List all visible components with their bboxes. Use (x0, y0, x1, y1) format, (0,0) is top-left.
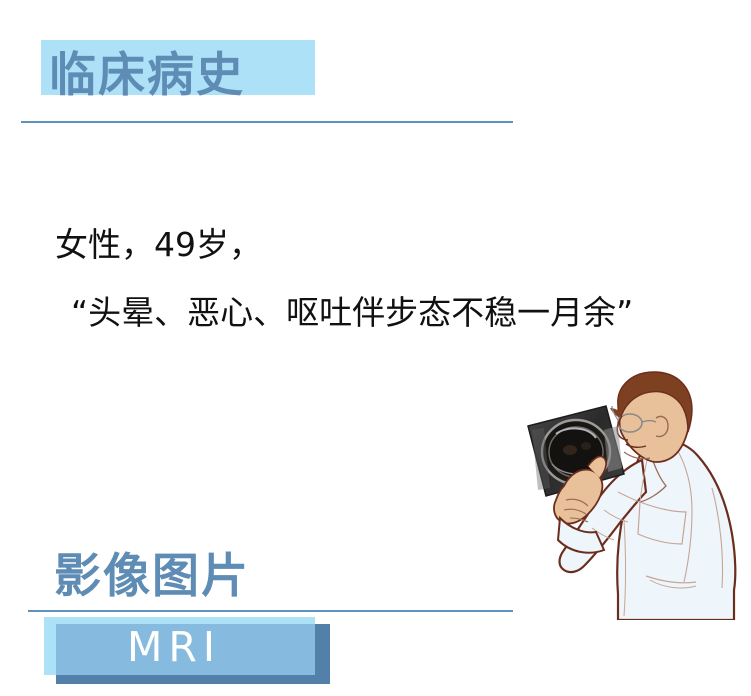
clinical-history-divider (21, 121, 513, 123)
doctor-reading-mri-illustration (500, 368, 750, 620)
patient-demographics-text: 女性，49岁， (55, 224, 262, 265)
imaging-divider (28, 610, 513, 612)
mri-modality-label: MRI (127, 623, 221, 672)
chief-complaint-text: “头晕、恶心、呕吐伴步态不稳一月余” (71, 292, 633, 333)
imaging-heading: 影像图片 (54, 553, 250, 600)
clinical-history-heading: 临床病史 (49, 52, 245, 99)
slide-canvas: 临床病史 女性，49岁， “头晕、恶心、呕吐伴步态不稳一月余” (0, 0, 751, 696)
doctor-head (610, 372, 692, 462)
